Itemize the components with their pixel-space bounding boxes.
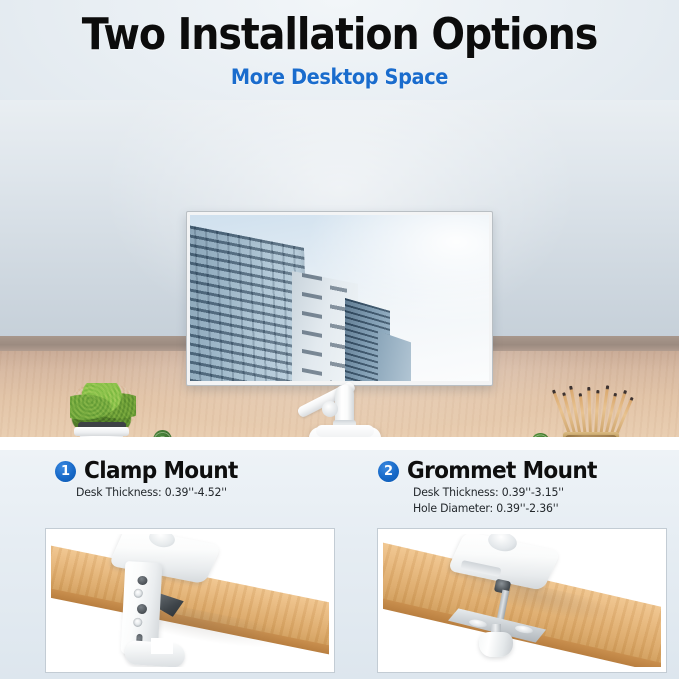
hero-section: Two Installation Options More Desktop Sp… [0,0,679,437]
adjustment-hole-icon [137,604,148,615]
clamp-mount-specs: Desk Thickness: 0.39''-4.52'' [0,484,339,500]
pencils-bundle [565,385,621,437]
spec-hole-diameter: Hole Diameter: 0.39''-2.36'' [413,500,666,516]
grommet-tightening-knob [479,632,513,657]
monitor-screen [190,215,489,381]
adjustment-hole-icon [137,576,147,586]
desk-photo-scene [0,100,679,437]
monitor-on-arm [186,211,493,386]
mount-option-clamp: 1 Clamp Mount Desk Thickness: 0.39''-4.5… [0,450,339,679]
plant-foliage-texture [70,383,136,427]
spec-desk-thickness: Desk Thickness: 0.39''-3.15'' [413,484,666,500]
clamp-mount-diagram [45,528,335,673]
page-title: Two Installation Options [34,9,645,61]
grommet-mount-specs: Desk Thickness: 0.39''-3.15'' Hole Diame… [340,484,679,516]
product-infographic: Two Installation Options More Desktop Sp… [0,0,679,679]
adjustment-hole-icon [134,589,143,598]
number-badge-1: 1 [55,461,76,482]
page-subtitle: More Desktop Space [27,64,652,90]
grommet-mount-title: Grommet Mount [407,458,597,484]
mount-option-grommet: 2 Grommet Mount Desk Thickness: 0.39''-3… [340,450,679,679]
clamp-diagram-canvas [51,534,329,667]
grommet-diagram-canvas [383,534,661,667]
adjustment-hole-icon [133,618,142,627]
building-far-right-icon [378,331,411,381]
number-badge-2: 2 [378,461,399,482]
spec-desk-thickness: Desk Thickness: 0.39''-4.52'' [76,484,326,500]
monitor-arm-base-top [316,425,374,437]
monitor-arm-hub [322,401,338,417]
grommet-mount-heading: 2 Grommet Mount [340,458,679,484]
section-divider [0,437,679,450]
clamp-foot-notch [151,638,173,654]
white-metal-planter-rim [74,427,129,436]
mount-options-section: 1 Clamp Mount Desk Thickness: 0.39''-4.5… [0,450,679,679]
clamp-mount-heading: 1 Clamp Mount [0,458,339,484]
grommet-mount-diagram [377,528,667,673]
clamp-mount-title: Clamp Mount [84,458,238,484]
